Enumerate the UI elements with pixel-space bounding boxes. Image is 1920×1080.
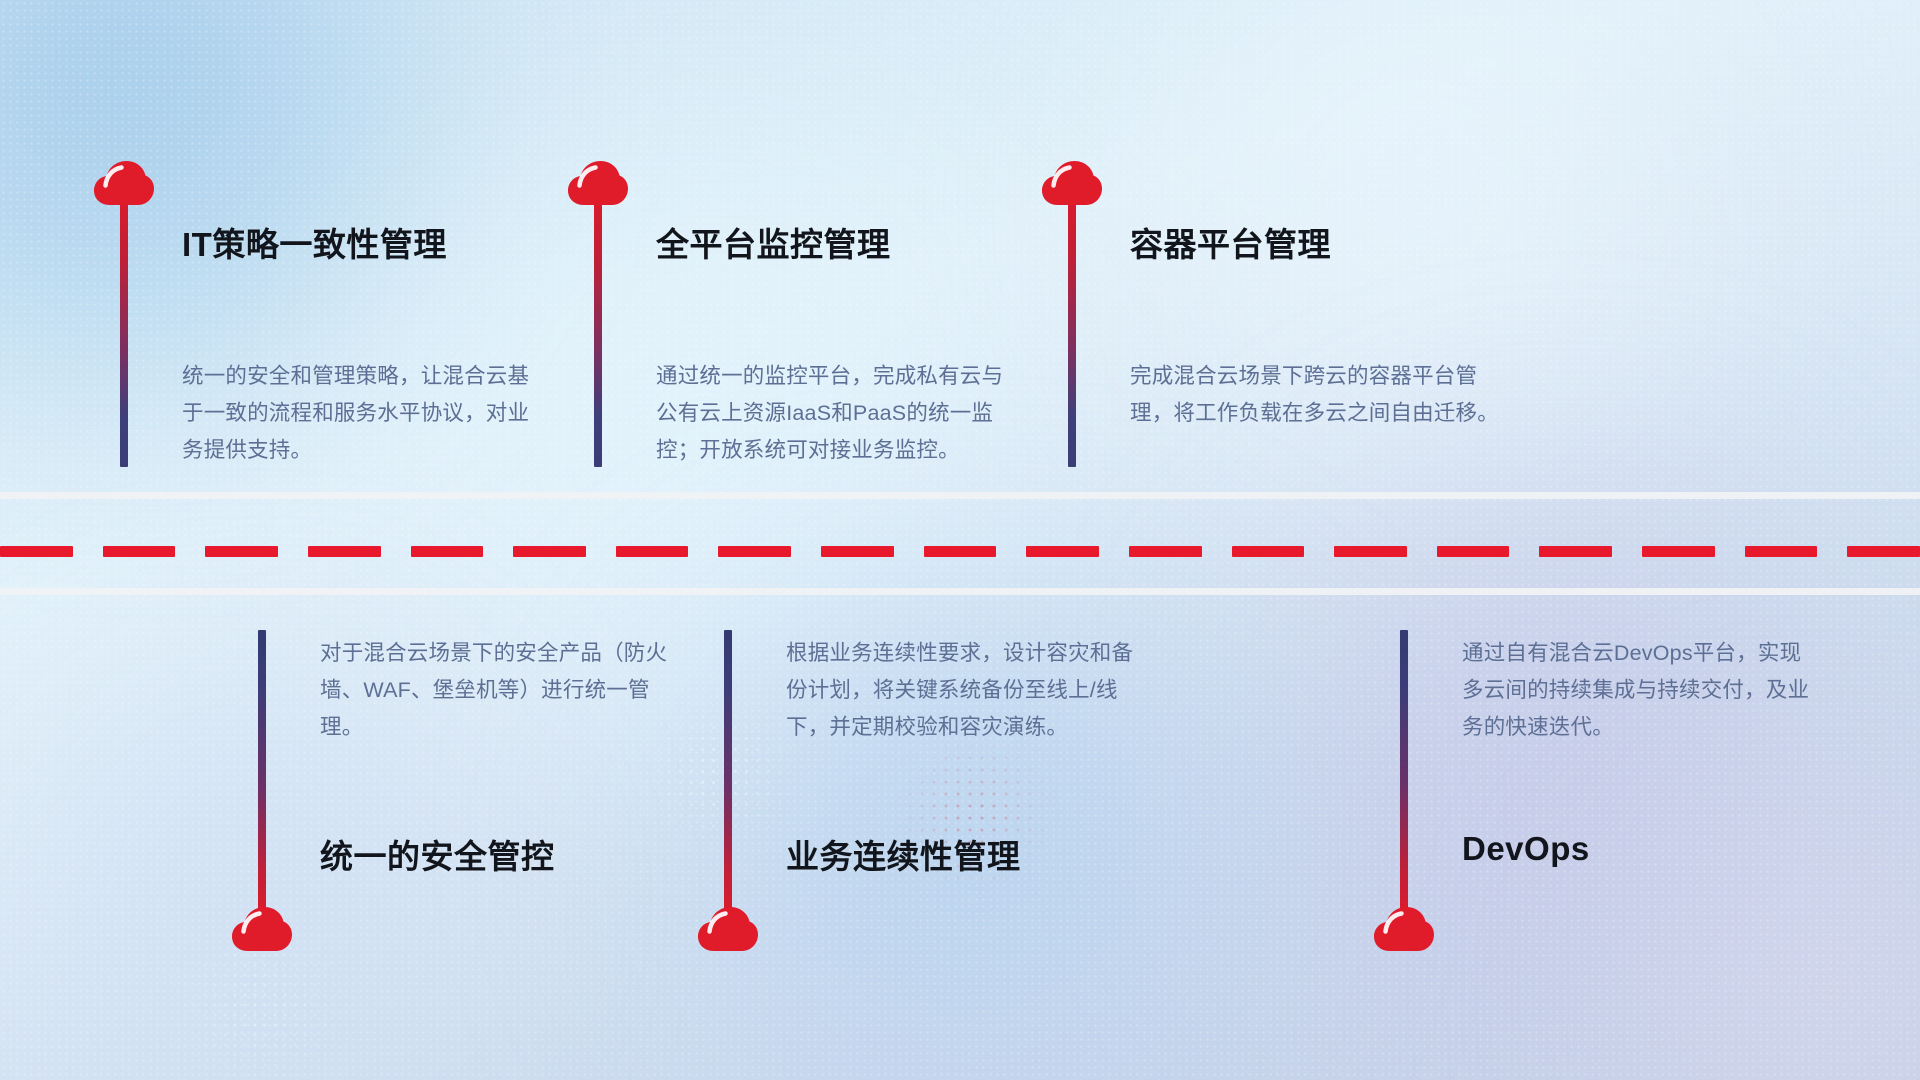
card-title: IT策略一致性管理 <box>182 218 447 266</box>
divider-dash <box>513 546 586 557</box>
card-body: 完成混合云场景下跨云的容器平台管理，将工作负载在多云之间自由迁移。 <box>1130 358 1500 432</box>
divider-dash <box>1232 546 1305 557</box>
divider-dash <box>1026 546 1099 557</box>
divider-dash <box>411 546 484 557</box>
card-body: 根据业务连续性要求，设计容灾和备份计划，将关键系统备份至线上/线下，并定期校验和… <box>786 635 1146 746</box>
cloud-icon <box>1373 906 1435 952</box>
infographic-canvas: IT策略一致性管理 统一的安全和管理策略，让混合云基于一致的流程和服务水平协议，… <box>0 0 1920 1080</box>
dashed-divider <box>0 546 1920 557</box>
cloud-icon <box>231 906 293 952</box>
connector-stem <box>120 182 128 467</box>
divider-rule-bottom <box>0 588 1920 595</box>
divider-dash <box>1334 546 1407 557</box>
divider-dash <box>821 546 894 557</box>
divider-dash <box>205 546 278 557</box>
divider-dash <box>103 546 176 557</box>
divider-dash <box>924 546 997 557</box>
card-body: 通过自有混合云DevOps平台，实现多云间的持续集成与持续交付，及业务的快速迭代… <box>1462 635 1812 746</box>
card-title: 统一的安全管控 <box>320 830 555 878</box>
card-title: 全平台监控管理 <box>656 218 891 266</box>
connector-stem <box>1400 630 1408 920</box>
divider-dash <box>1847 546 1920 557</box>
card-title: 容器平台管理 <box>1130 218 1331 266</box>
connector-stem <box>594 182 602 467</box>
divider-rule-top <box>0 492 1920 499</box>
card-body: 对于混合云场景下的安全产品（防火墙、WAF、堡垒机等）进行统一管理。 <box>320 635 675 746</box>
card-body: 统一的安全和管理策略，让混合云基于一致的流程和服务水平协议，对业务提供支持。 <box>182 358 537 469</box>
cloud-icon <box>567 160 629 206</box>
connector-stem <box>1068 182 1076 467</box>
cloud-icon <box>93 160 155 206</box>
connector-stem <box>258 630 266 920</box>
card-title: 业务连续性管理 <box>786 830 1021 878</box>
card-title: DevOps <box>1462 830 1590 868</box>
card-body: 通过统一的监控平台，完成私有云与公有云上资源IaaS和PaaS的统一监控；开放系… <box>656 358 1011 469</box>
divider-dash <box>616 546 689 557</box>
divider-dash <box>1539 546 1612 557</box>
decorative-dot-cluster <box>140 950 380 1080</box>
divider-dash <box>0 546 73 557</box>
divider-dash <box>1642 546 1715 557</box>
divider-dash <box>1437 546 1510 557</box>
divider-dash <box>308 546 381 557</box>
divider-dash <box>1745 546 1818 557</box>
divider-dash <box>718 546 791 557</box>
cloud-icon <box>697 906 759 952</box>
connector-stem <box>724 630 732 920</box>
divider-dash <box>1129 546 1202 557</box>
cloud-icon <box>1041 160 1103 206</box>
